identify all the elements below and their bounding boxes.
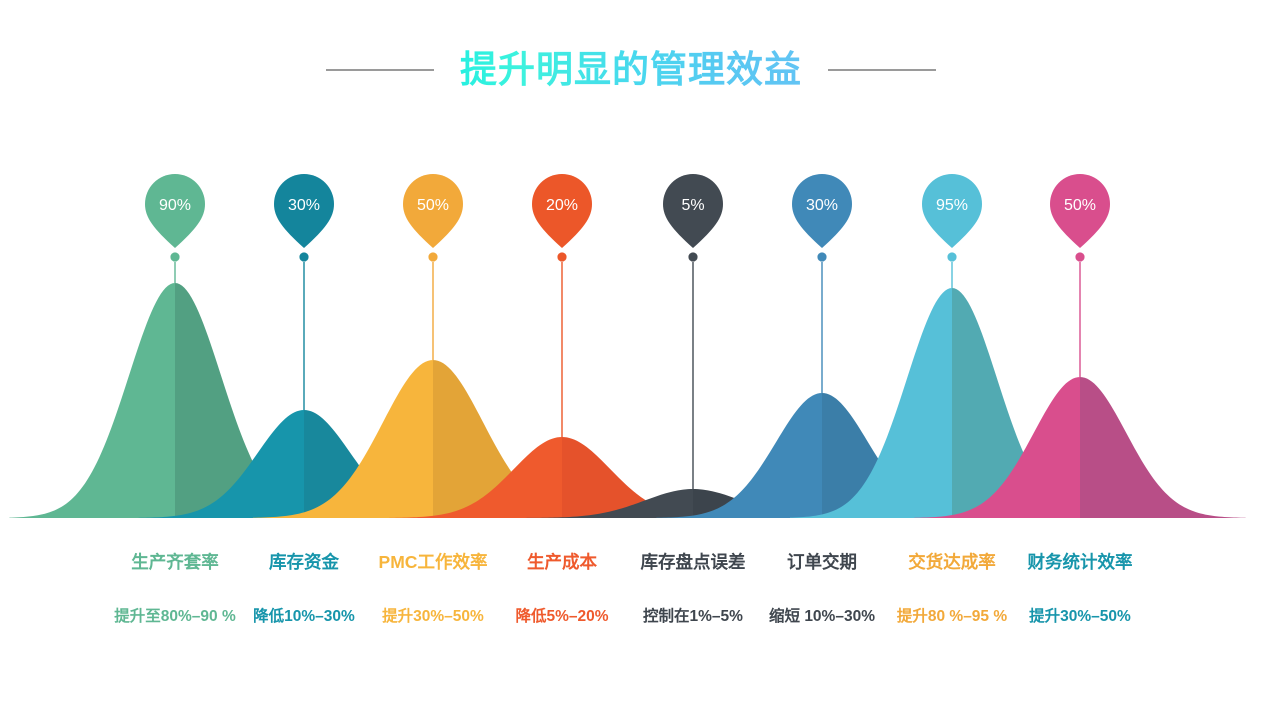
annotation-label-4: 降低5%–20%	[515, 604, 608, 626]
annotation-label-3: 提升30%–50%	[382, 604, 484, 626]
category-label-6: 订单交期	[787, 549, 857, 574]
category-label-2: 库存资金	[269, 549, 339, 574]
category-label-1: 生产齐套率	[131, 549, 219, 574]
annotation-label-5: 控制在1%–5%	[643, 604, 743, 626]
annotation-label-1: 提升至80%–90 %	[114, 604, 235, 626]
category-label-7: 交货达成率	[908, 549, 996, 574]
annotation-label-2: 降低10%–30%	[253, 604, 355, 626]
annotation-label-6: 缩短 10%–30%	[769, 604, 875, 626]
category-label-3: PMC工作效率	[379, 549, 488, 574]
annotation-label-7: 提升80 %–95 %	[897, 604, 1007, 626]
slide-canvas: 提升明显的管理效益 90%30%50%20%5%30%95%50% 生产齐套率提…	[0, 0, 1262, 708]
annotation-label-8: 提升30%–50%	[1029, 604, 1131, 626]
chart-labels-layer: 生产齐套率提升至80%–90 %库存资金降低10%–30%PMC工作效率提升30…	[0, 0, 1262, 708]
category-label-4: 生产成本	[527, 549, 597, 574]
category-label-5: 库存盘点误差	[641, 549, 746, 574]
category-label-8: 财务统计效率	[1028, 549, 1133, 574]
